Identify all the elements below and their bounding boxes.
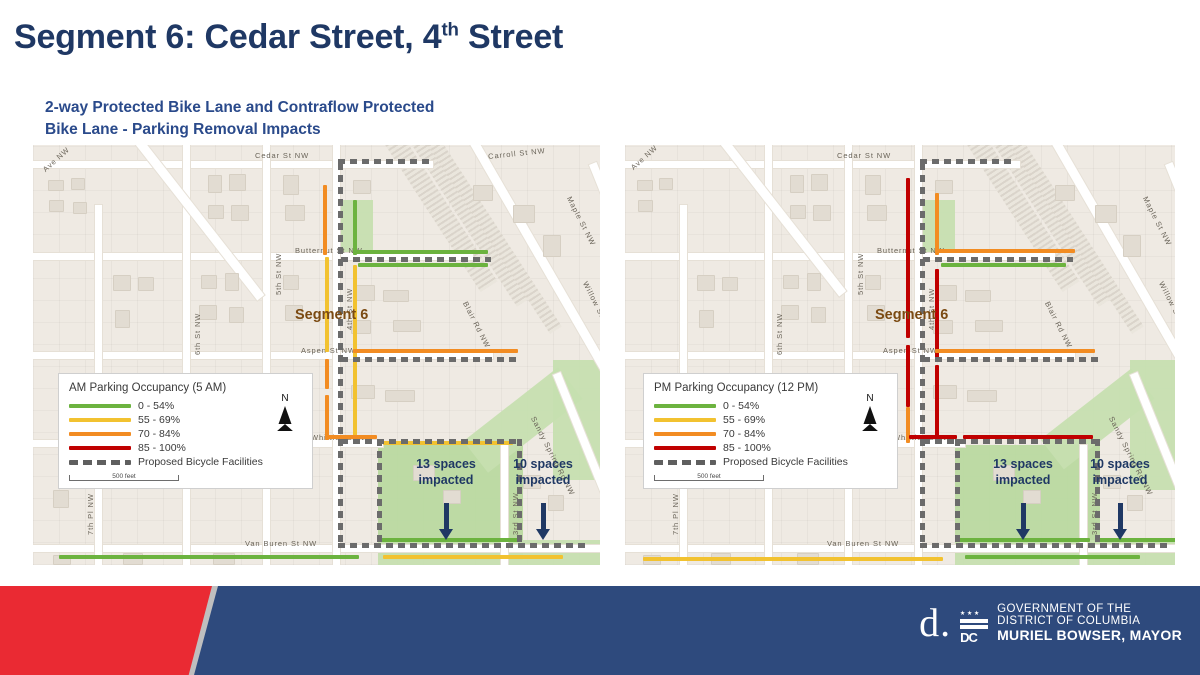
building bbox=[699, 310, 714, 328]
occupancy-segment bbox=[941, 263, 1066, 267]
bike-facility-line bbox=[338, 543, 588, 548]
building bbox=[722, 277, 738, 291]
building bbox=[1123, 235, 1141, 257]
impact-callout-10-spaces: 10 spaces impacted bbox=[495, 457, 591, 488]
north-label: N bbox=[857, 394, 883, 404]
occupancy-segment bbox=[59, 555, 359, 559]
building bbox=[811, 174, 828, 191]
building bbox=[783, 275, 799, 289]
page-subtitle: 2-way Protected Bike Lane and Contraflow… bbox=[45, 97, 434, 142]
legend-swatch-dashed bbox=[69, 460, 131, 465]
bike-facility-line bbox=[923, 257, 1073, 262]
legend-swatch-orange bbox=[654, 432, 716, 436]
building bbox=[201, 275, 217, 289]
impact-line-2: impacted bbox=[398, 473, 494, 489]
occupancy-segment bbox=[353, 250, 488, 254]
legend-pm[interactable]: PM Parking Occupancy (12 PM) 0 - 54% 55 … bbox=[643, 373, 898, 489]
map-am-parking-occupancy[interactable]: Cedar St NW Carroll St NW Butternut St N… bbox=[33, 145, 600, 565]
impact-line-2: impacted bbox=[975, 473, 1071, 489]
scale-bar-label: 500 feet bbox=[69, 473, 179, 480]
bike-facility-line bbox=[920, 159, 1015, 164]
flag-bar bbox=[960, 619, 988, 623]
bike-facility-line bbox=[920, 163, 925, 548]
street-label-7th-pl: 7th Pl NW bbox=[86, 493, 95, 535]
flag-dc-text: DC bbox=[960, 630, 977, 645]
occupancy-segment bbox=[325, 395, 329, 440]
legend-label: 85 - 100% bbox=[138, 442, 186, 454]
street-label-5th: 5th St NW bbox=[856, 253, 865, 295]
arrow-head bbox=[1113, 529, 1127, 540]
occupancy-segment bbox=[323, 185, 327, 255]
basemap-am: Cedar St NW Carroll St NW Butternut St N… bbox=[33, 145, 600, 565]
north-arrow-indicator: N bbox=[857, 394, 883, 432]
building bbox=[1095, 205, 1117, 223]
impact-callout-10-spaces: 10 spaces impacted bbox=[1072, 457, 1168, 488]
building bbox=[1055, 185, 1075, 201]
legend-title: AM Parking Occupancy (5 AM) bbox=[69, 382, 302, 394]
building bbox=[697, 275, 715, 291]
building bbox=[548, 495, 564, 511]
legend-swatch-green bbox=[654, 404, 716, 408]
page-title-main: Segment 6: Cedar Street, 4 bbox=[14, 18, 442, 56]
page-title-tail: Street bbox=[459, 18, 563, 56]
building bbox=[865, 175, 881, 195]
building bbox=[353, 180, 371, 194]
logo-wordmark: GOVERNMENT OF THE DISTRICT OF COLUMBIA M… bbox=[997, 603, 1182, 643]
building bbox=[865, 275, 881, 290]
impact-line-2: impacted bbox=[1072, 473, 1168, 489]
scale-bar: 500 feet bbox=[69, 475, 179, 481]
street-label-cedar: Cedar St NW bbox=[255, 151, 309, 160]
occupancy-segment bbox=[906, 345, 910, 407]
bike-facility-line bbox=[341, 257, 491, 262]
building bbox=[790, 175, 804, 193]
legend-row-55-69[interactable]: 55 - 69% bbox=[69, 413, 302, 427]
legend-swatch-dashed bbox=[654, 460, 716, 465]
legend-am[interactable]: AM Parking Occupancy (5 AM) 0 - 54% 55 -… bbox=[58, 373, 313, 489]
legend-label: 0 - 54% bbox=[138, 400, 174, 412]
segment-callout-label: Segment 6 bbox=[875, 307, 948, 323]
occupancy-segment bbox=[935, 249, 1075, 253]
legend-row-55-69[interactable]: 55 - 69% bbox=[654, 413, 887, 427]
legend-label: Proposed Bicycle Facilities bbox=[138, 456, 263, 468]
north-arrow-notch bbox=[276, 424, 294, 432]
impact-arrow-10-spaces bbox=[536, 503, 550, 540]
impact-callout-13-spaces: 13 spaces impacted bbox=[975, 457, 1071, 488]
bike-facility-line bbox=[923, 357, 1103, 362]
impact-line-1: 10 spaces bbox=[1072, 457, 1168, 473]
bike-facility-line bbox=[923, 439, 1101, 444]
legend-row-70-84[interactable]: 70 - 84% bbox=[654, 427, 887, 441]
building bbox=[967, 390, 997, 402]
building bbox=[543, 235, 561, 257]
arrow-shaft bbox=[541, 503, 546, 529]
arrow-shaft bbox=[1118, 503, 1123, 529]
road-5th bbox=[263, 145, 270, 565]
building bbox=[473, 185, 493, 201]
building bbox=[1023, 490, 1041, 504]
building bbox=[1127, 495, 1143, 511]
logo-line-2: DISTRICT OF COLUMBIA bbox=[997, 615, 1182, 627]
street-label-7th-pl: 7th Pl NW bbox=[671, 493, 680, 535]
impact-arrow-13-spaces bbox=[439, 503, 453, 540]
legend-label: 70 - 84% bbox=[723, 428, 765, 440]
building bbox=[225, 273, 239, 291]
legend-row-0-54[interactable]: 0 - 54% bbox=[654, 399, 887, 413]
subtitle-line-2: Bike Lane - Parking Removal Impacts bbox=[45, 119, 434, 141]
building bbox=[965, 290, 991, 302]
bike-facility-line bbox=[517, 439, 522, 547]
building bbox=[867, 205, 887, 221]
footer-bar: d. DC GOVERNMENT OF THE DISTRICT OF COLU… bbox=[0, 586, 1200, 675]
legend-swatch-yellow bbox=[69, 418, 131, 422]
street-label-cedar: Cedar St NW bbox=[837, 151, 891, 160]
building bbox=[393, 320, 421, 332]
star-icon bbox=[960, 610, 965, 615]
occupancy-segment bbox=[935, 349, 1095, 353]
bike-facility-line bbox=[341, 357, 521, 362]
building bbox=[49, 200, 64, 212]
legend-swatch-yellow bbox=[654, 418, 716, 422]
legend-label: Proposed Bicycle Facilities bbox=[723, 456, 848, 468]
street-label-6th: 6th St NW bbox=[775, 313, 784, 355]
legend-row-0-54[interactable]: 0 - 54% bbox=[69, 399, 302, 413]
legend-title: PM Parking Occupancy (12 PM) bbox=[654, 382, 887, 394]
street-label-vanburen: Van Buren St NW bbox=[827, 539, 899, 548]
logo-line-3: MURIEL BOWSER, MAYOR bbox=[997, 628, 1182, 643]
building bbox=[113, 275, 131, 291]
occupancy-segment bbox=[353, 200, 357, 255]
legend-row-70-84[interactable]: 70 - 84% bbox=[69, 427, 302, 441]
star-icon bbox=[967, 610, 972, 615]
bike-facility-line bbox=[338, 159, 433, 164]
building bbox=[811, 307, 826, 323]
legend-swatch-red bbox=[69, 446, 131, 450]
impact-line-1: 13 spaces bbox=[398, 457, 494, 473]
building bbox=[935, 180, 953, 194]
legend-row-85-100[interactable]: 85 - 100% bbox=[69, 441, 302, 455]
bike-facility-line bbox=[1095, 439, 1100, 547]
building bbox=[659, 178, 673, 190]
building bbox=[71, 178, 85, 190]
building bbox=[285, 205, 305, 221]
street-label-aspen: Aspen St NW bbox=[883, 346, 938, 355]
star-icon bbox=[974, 610, 979, 615]
impact-line-1: 13 spaces bbox=[975, 457, 1071, 473]
dc-flag-icon: DC bbox=[960, 608, 988, 638]
legend-label: 85 - 100% bbox=[723, 442, 771, 454]
bike-facility-line bbox=[341, 439, 519, 444]
impact-callout-13-spaces: 13 spaces impacted bbox=[398, 457, 494, 488]
building bbox=[638, 200, 653, 212]
building bbox=[807, 273, 821, 291]
occupancy-segment bbox=[358, 263, 488, 267]
impact-line-2: impacted bbox=[495, 473, 591, 489]
street-label-6th: 6th St NW bbox=[193, 313, 202, 355]
building bbox=[48, 180, 64, 191]
page-title-ordinal: th bbox=[442, 19, 459, 40]
building bbox=[115, 310, 130, 328]
map-pm-parking-occupancy[interactable]: Cedar St NW Butternut St NW Aspen St NW … bbox=[625, 145, 1175, 565]
occupancy-segment bbox=[935, 193, 939, 255]
north-arrow-notch bbox=[861, 424, 879, 432]
building bbox=[813, 205, 831, 221]
building bbox=[513, 205, 535, 223]
segment-callout-label: Segment 6 bbox=[295, 307, 368, 323]
building bbox=[383, 290, 409, 302]
subtitle-line-1: 2-way Protected Bike Lane and Contraflow… bbox=[45, 97, 434, 119]
arrow-head bbox=[439, 529, 453, 540]
street-label-vanburen: Van Buren St NW bbox=[245, 539, 317, 548]
building bbox=[443, 490, 461, 504]
building bbox=[138, 277, 154, 291]
scale-bar-label: 500 feet bbox=[654, 473, 764, 480]
logo-line-1: GOVERNMENT OF THE bbox=[997, 603, 1182, 615]
flag-stars bbox=[960, 609, 988, 617]
occupancy-segment bbox=[325, 359, 329, 389]
impact-arrow-10-spaces bbox=[1113, 503, 1127, 540]
impact-arrow-13-spaces bbox=[1016, 503, 1030, 540]
legend-swatch-green bbox=[69, 404, 131, 408]
footer-red-block bbox=[0, 586, 212, 675]
legend-row-bike-facilities[interactable]: Proposed Bicycle Facilities bbox=[69, 455, 302, 469]
occupancy-segment bbox=[935, 365, 939, 443]
building bbox=[229, 174, 246, 191]
legend-label: 55 - 69% bbox=[723, 414, 765, 426]
building bbox=[73, 202, 87, 214]
building bbox=[283, 275, 299, 290]
building bbox=[790, 205, 806, 219]
occupancy-segment bbox=[353, 359, 357, 439]
arrow-shaft bbox=[1021, 503, 1026, 529]
impact-line-1: 10 spaces bbox=[495, 457, 591, 473]
building bbox=[975, 320, 1003, 332]
occupancy-segment bbox=[1097, 538, 1175, 542]
occupancy-segment bbox=[643, 557, 943, 561]
bike-facility-line bbox=[338, 163, 343, 548]
occupancy-segment bbox=[965, 555, 1140, 559]
arrow-shaft bbox=[444, 503, 449, 529]
bike-facility-line bbox=[377, 439, 382, 547]
bike-facility-line bbox=[955, 439, 960, 547]
north-label: N bbox=[272, 394, 298, 404]
street-label-5th: 5th St NW bbox=[274, 253, 283, 295]
building bbox=[208, 205, 224, 219]
north-arrow-indicator: N bbox=[272, 394, 298, 432]
building bbox=[385, 390, 415, 402]
legend-swatch-red bbox=[654, 446, 716, 450]
legend-label: 55 - 69% bbox=[138, 414, 180, 426]
legend-row-bike-facilities[interactable]: Proposed Bicycle Facilities bbox=[654, 455, 887, 469]
building bbox=[637, 180, 653, 191]
dc-government-logo: d. DC GOVERNMENT OF THE DISTRICT OF COLU… bbox=[919, 603, 1182, 643]
road-5th bbox=[845, 145, 852, 565]
flag-bar bbox=[960, 625, 988, 629]
occupancy-segment bbox=[353, 349, 518, 353]
legend-row-85-100[interactable]: 85 - 100% bbox=[654, 441, 887, 455]
basemap-pm: Cedar St NW Butternut St NW Aspen St NW … bbox=[625, 145, 1175, 565]
legend-label: 0 - 54% bbox=[723, 400, 759, 412]
scale-bar: 500 feet bbox=[654, 475, 764, 481]
building bbox=[208, 175, 222, 193]
building bbox=[53, 490, 69, 508]
occupancy-segment bbox=[383, 555, 563, 559]
building bbox=[229, 307, 244, 323]
building bbox=[283, 175, 299, 195]
occupancy-segment bbox=[325, 257, 329, 352]
arrow-head bbox=[536, 529, 550, 540]
legend-label: 70 - 84% bbox=[138, 428, 180, 440]
arrow-head bbox=[1016, 529, 1030, 540]
page-title: Segment 6: Cedar Street, 4th Street bbox=[14, 18, 563, 57]
legend-swatch-orange bbox=[69, 432, 131, 436]
building bbox=[231, 205, 249, 221]
logo-d-mark: d. bbox=[919, 604, 951, 642]
